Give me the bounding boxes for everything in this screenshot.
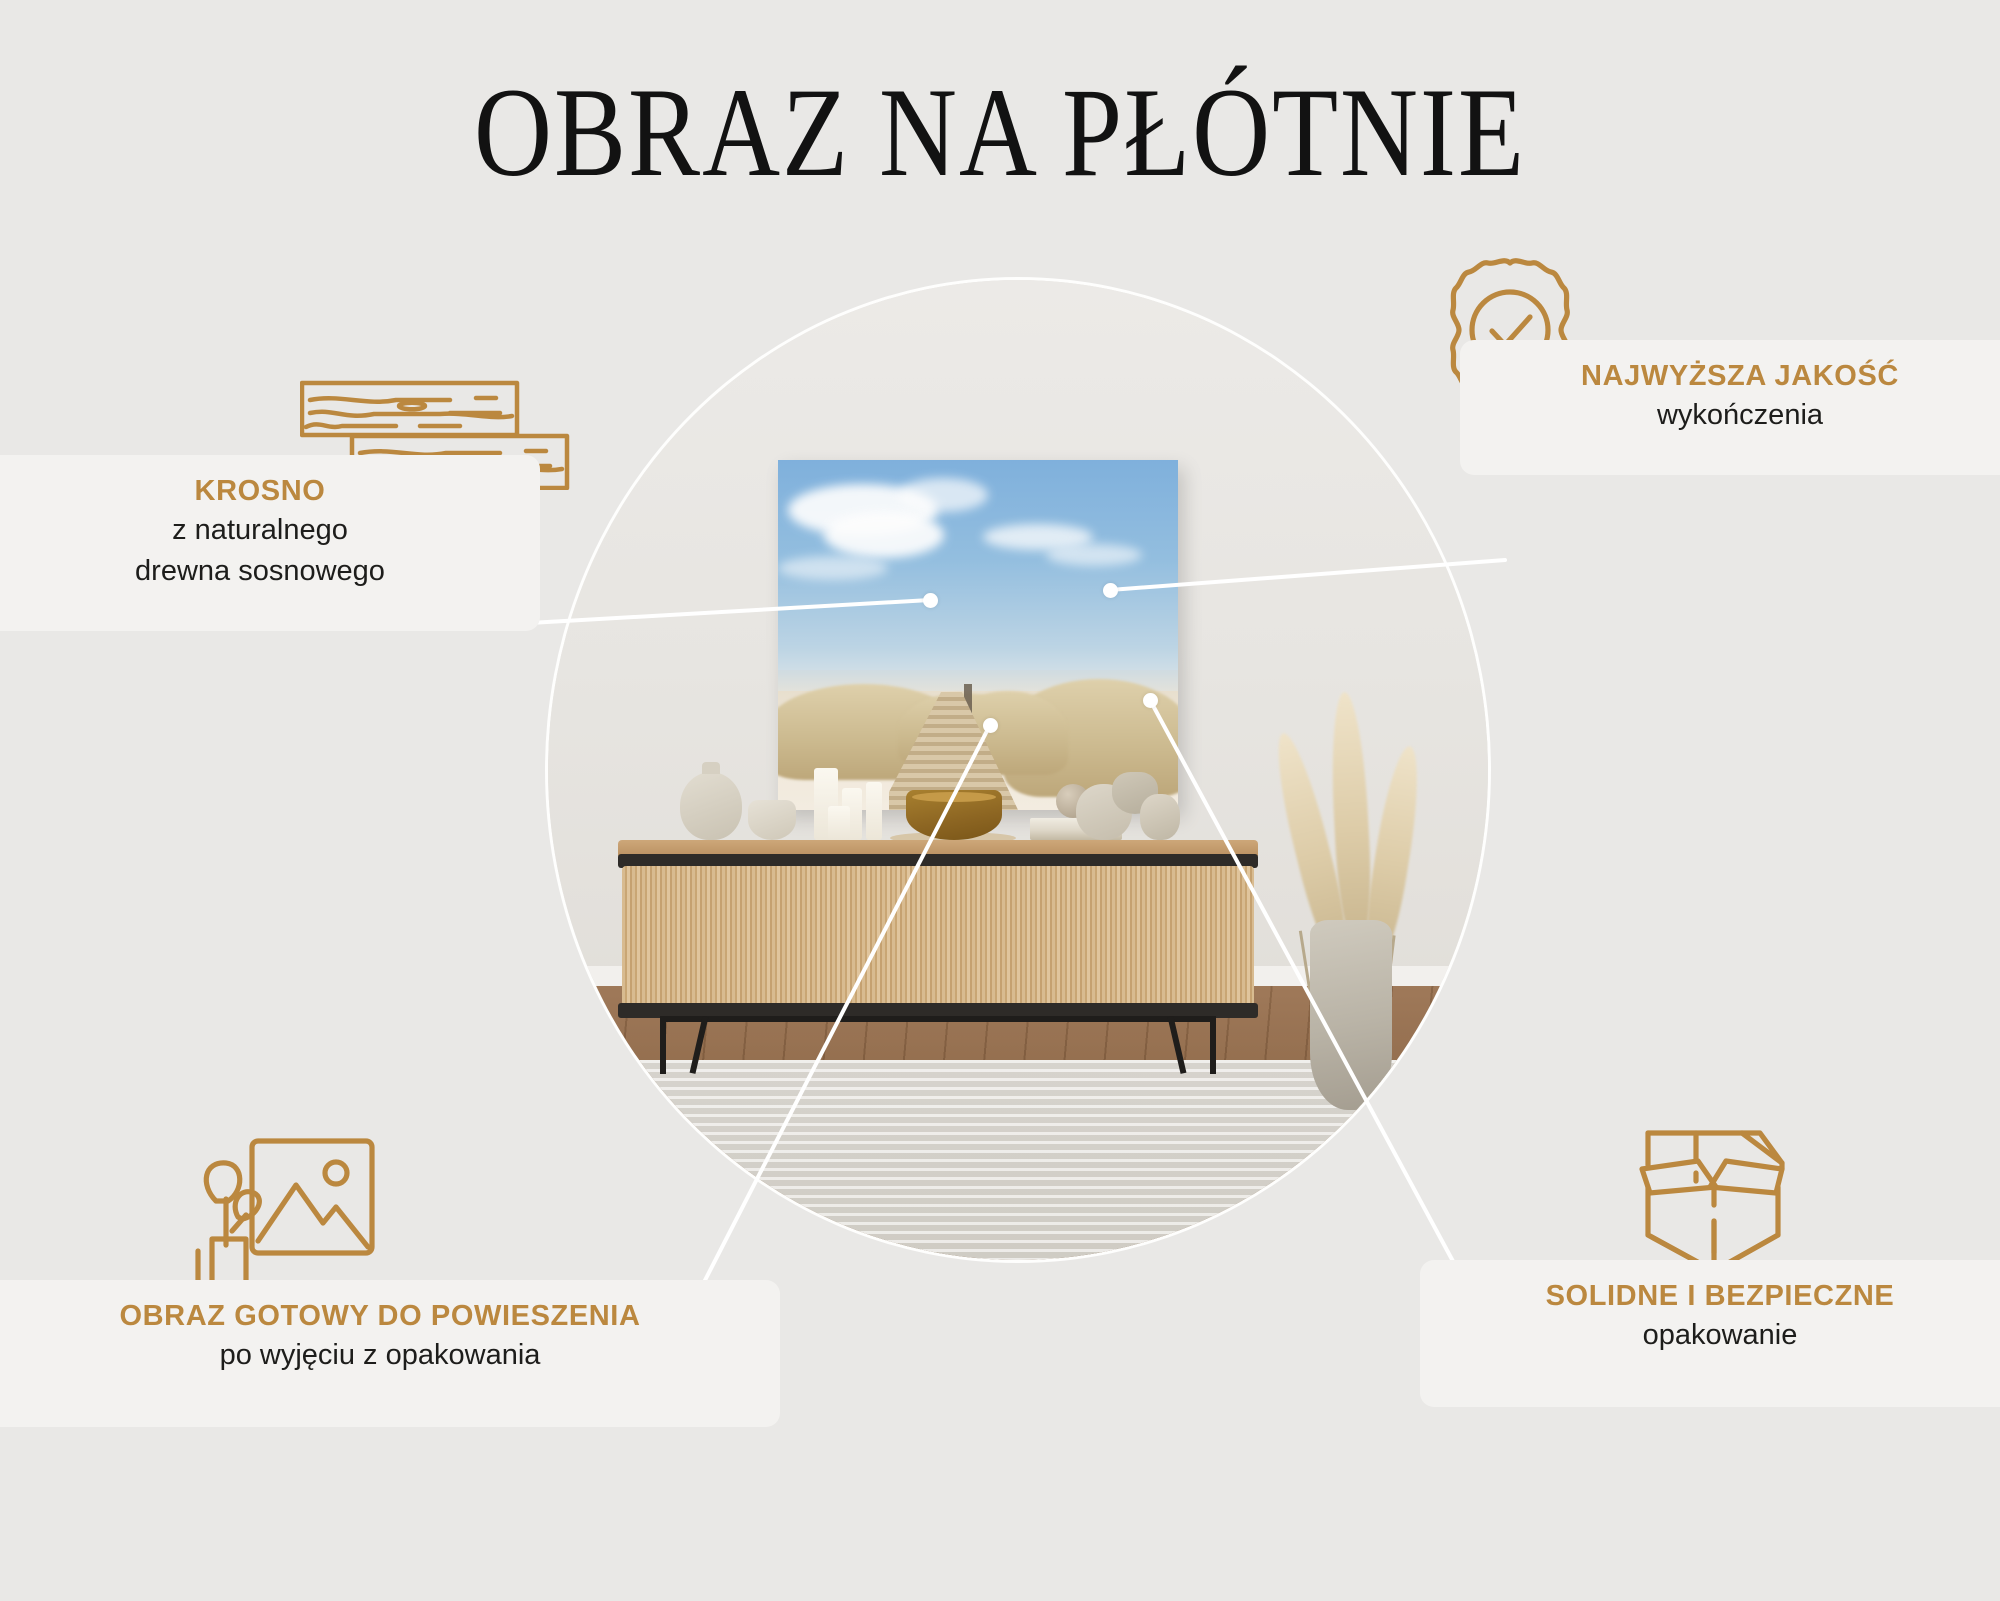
ceramic-bowl bbox=[748, 800, 796, 840]
sideboard-fluted-front bbox=[622, 866, 1254, 1006]
feature-title-krosno: KROSNO bbox=[6, 473, 514, 509]
feature-title-ready-to-hang: OBRAZ GOTOWY DO POWIESZENIA bbox=[6, 1298, 754, 1334]
feature-subtitle-krosno-line2: drewna sosnowego bbox=[6, 553, 514, 591]
ceramic-vase bbox=[1140, 794, 1180, 840]
hotspot-krosno[interactable] bbox=[923, 593, 938, 608]
feature-subtitle-packaging: opakowanie bbox=[1446, 1317, 1994, 1355]
fluted-oak-sideboard bbox=[618, 840, 1258, 1040]
feature-title-packaging: SOLIDNE I BEZPIECZNE bbox=[1446, 1278, 1994, 1314]
feature-title-quality: NAJWYŻSZA JAKOŚĆ bbox=[1486, 358, 1994, 394]
page-title: OBRAZ NA PŁÓTNIE bbox=[0, 70, 2000, 197]
hotspot-quality[interactable] bbox=[1103, 583, 1118, 598]
pillar-candle bbox=[866, 782, 882, 840]
ceramic-vase bbox=[680, 772, 742, 840]
feature-card-krosno[interactable]: KROSNO z naturalnego drewna sosnowego bbox=[0, 455, 540, 631]
hotspot-packaging[interactable] bbox=[1143, 693, 1158, 708]
sideboard-leg bbox=[1210, 1016, 1216, 1074]
feature-card-ready-to-hang[interactable]: OBRAZ GOTOWY DO POWIESZENIA po wyjęciu z… bbox=[0, 1280, 780, 1427]
feature-subtitle-krosno-line1: z naturalnego bbox=[6, 512, 514, 550]
infographic-canvas: OBRAZ NA PŁÓTNIE bbox=[0, 0, 2000, 1601]
sideboard-leg-bar bbox=[660, 1016, 1216, 1022]
floor-vase bbox=[1310, 920, 1392, 1110]
room-scene-circle bbox=[548, 280, 1488, 1260]
feature-subtitle-ready-to-hang: po wyjęciu z opakowania bbox=[6, 1337, 754, 1375]
sideboard-leg bbox=[660, 1016, 666, 1074]
feature-card-packaging[interactable]: SOLIDNE I BEZPIECZNE opakowanie bbox=[1420, 1260, 2000, 1407]
room-interior bbox=[548, 280, 1488, 1260]
woven-basket bbox=[574, 1110, 666, 1196]
artwork-sky bbox=[778, 460, 1178, 681]
feature-subtitle-quality: wykończenia bbox=[1486, 397, 1994, 435]
feature-card-quality[interactable]: NAJWYŻSZA JAKOŚĆ wykończenia bbox=[1460, 340, 2000, 475]
beach-boardwalk-canvas-artwork bbox=[778, 460, 1178, 810]
hotspot-ready-to-hang[interactable] bbox=[983, 718, 998, 733]
brass-bowl bbox=[906, 790, 1002, 840]
pillar-candle bbox=[828, 806, 850, 840]
